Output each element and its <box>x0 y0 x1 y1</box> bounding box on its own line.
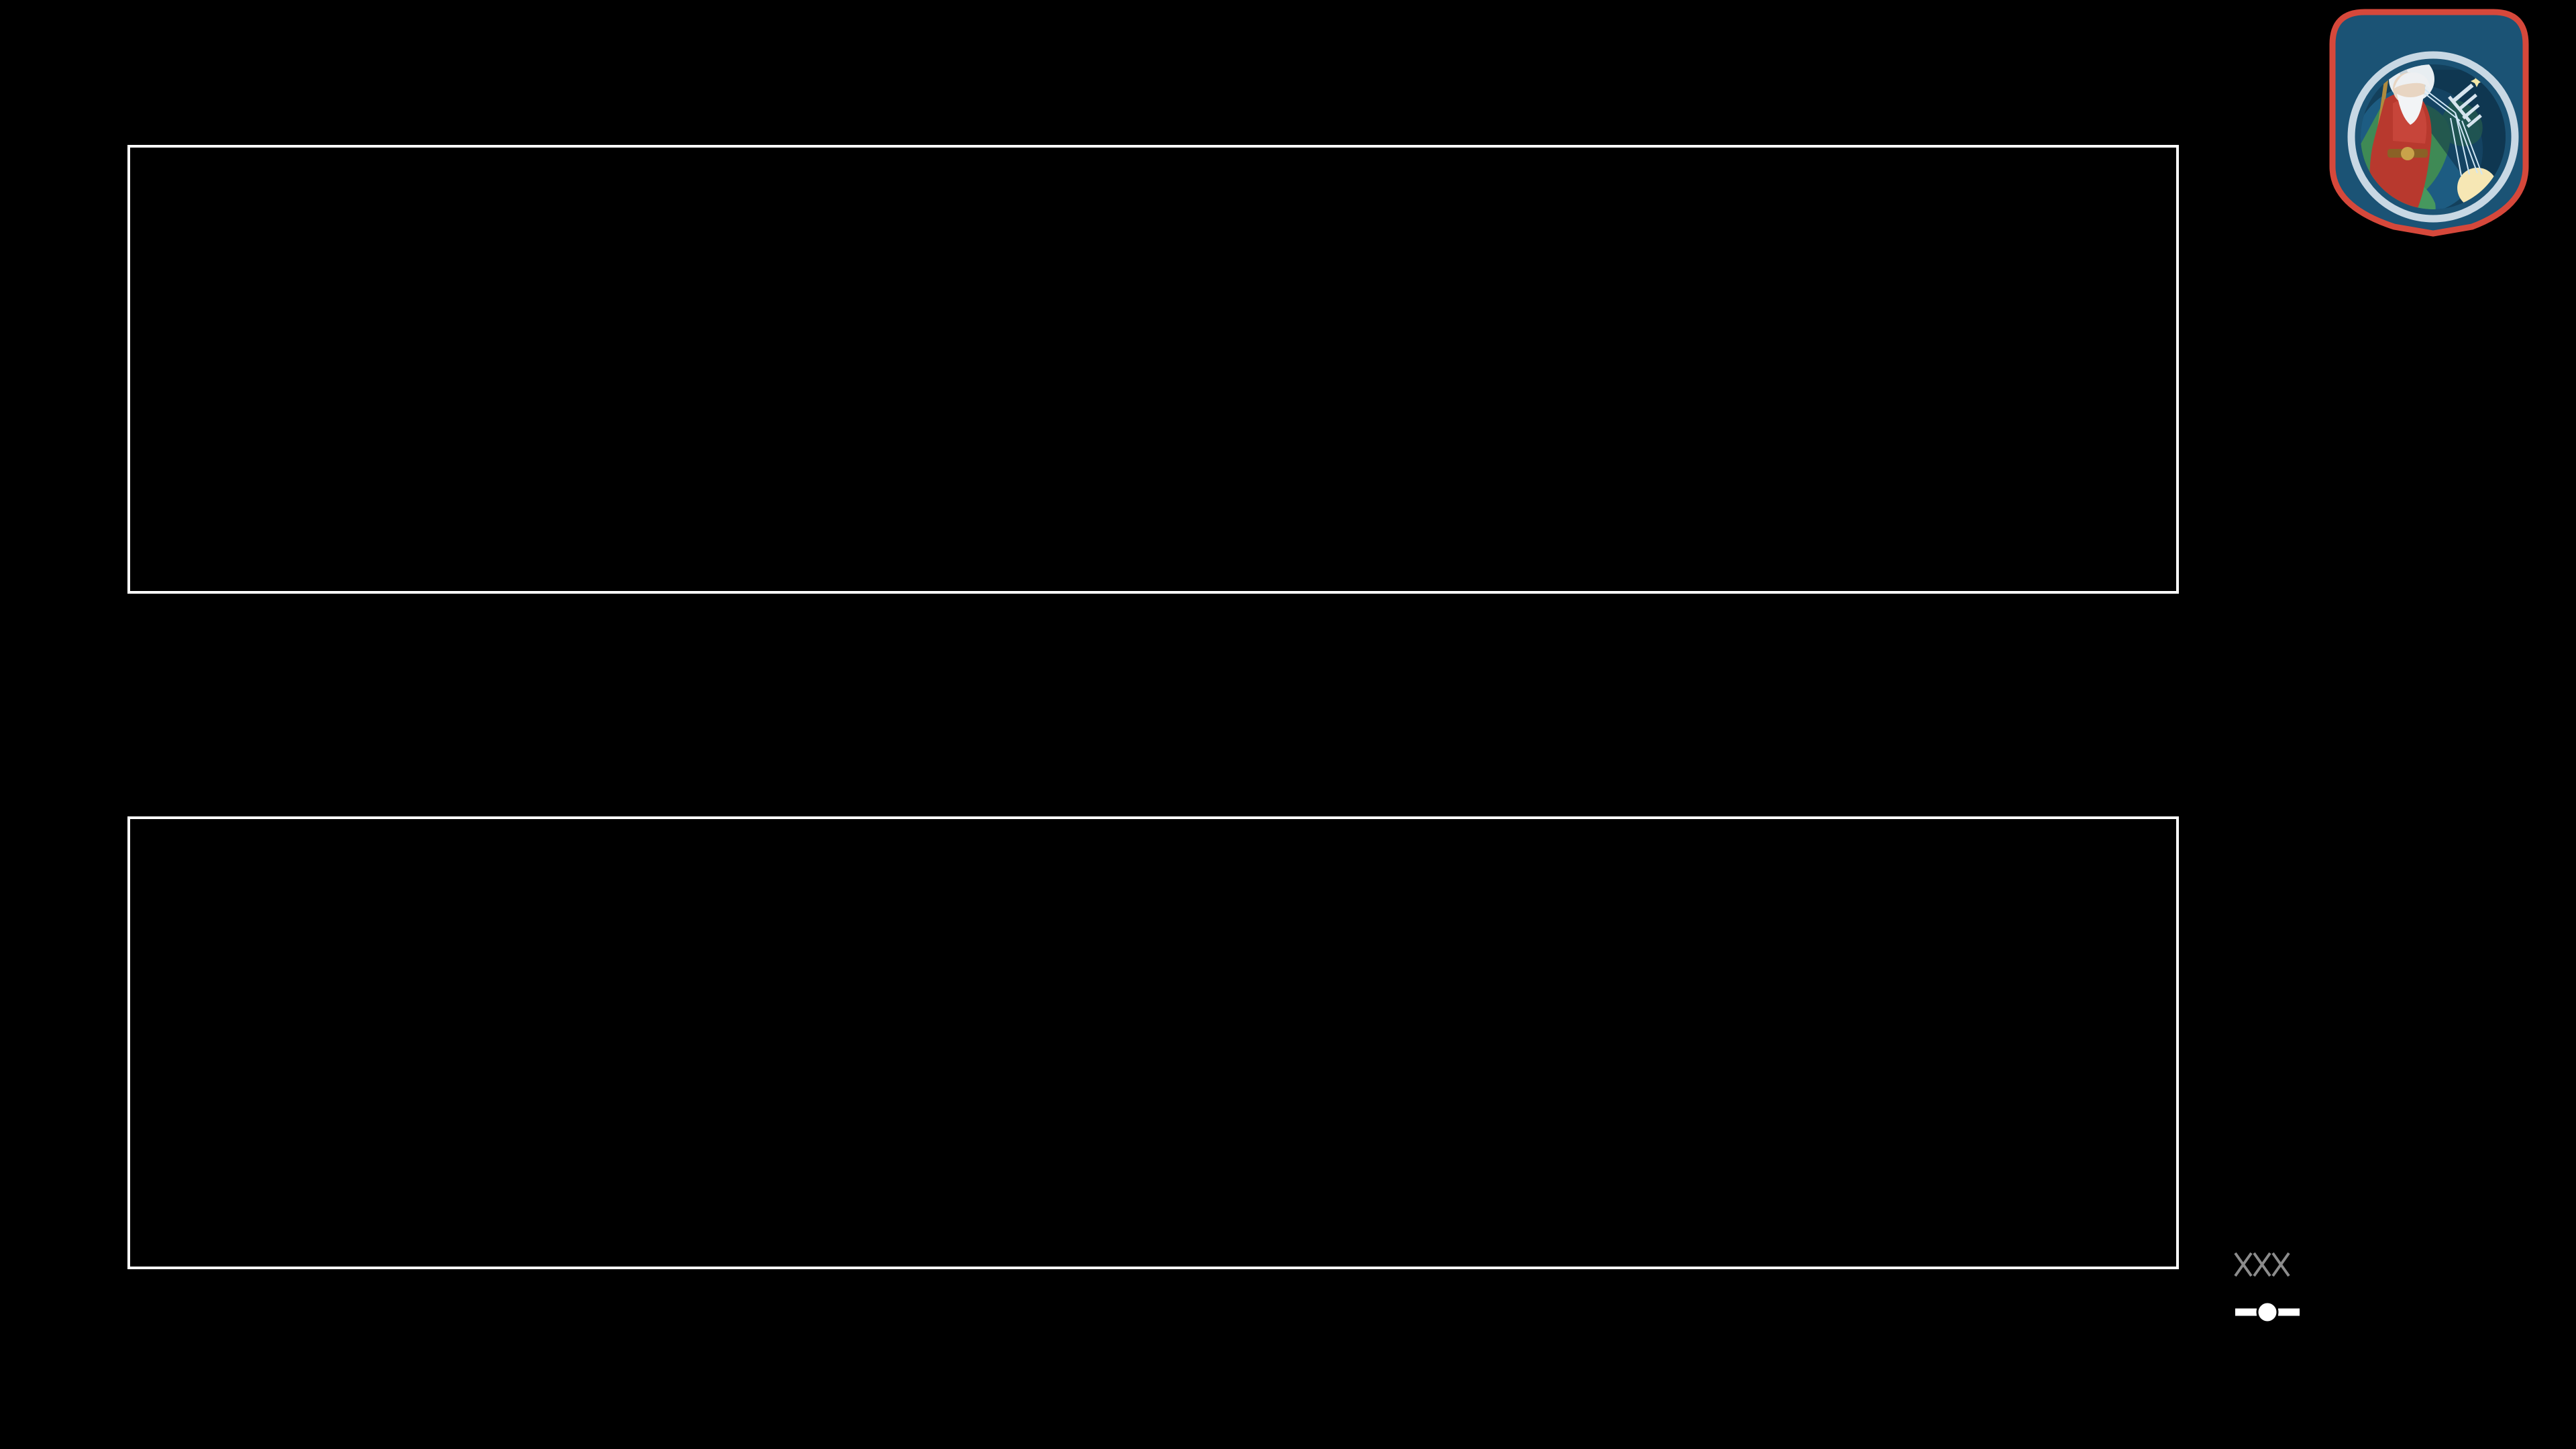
tropopause-overlay-sunrise <box>130 148 2176 591</box>
plot-area-sunset[interactable] <box>127 816 2179 1269</box>
hatch-cross-icon <box>2234 1249 2308 1280</box>
plot-area-sunrise[interactable] <box>127 145 2179 594</box>
tropopause-overlay-sunset <box>130 819 2176 1267</box>
colorbar[interactable] <box>2239 193 2292 1179</box>
logo-badge-icon <box>2318 5 2539 237</box>
colorbar-gradient <box>2239 193 2292 1179</box>
sage-iii-iss-logo <box>2318 5 2539 237</box>
line-dot-icon <box>2234 1297 2308 1328</box>
panel-sunset <box>127 816 2179 1269</box>
legend-item-tropopause[interactable] <box>2234 1297 2325 1328</box>
legend-item-no-data[interactable] <box>2234 1249 2325 1280</box>
panel-sunrise <box>127 145 2179 594</box>
